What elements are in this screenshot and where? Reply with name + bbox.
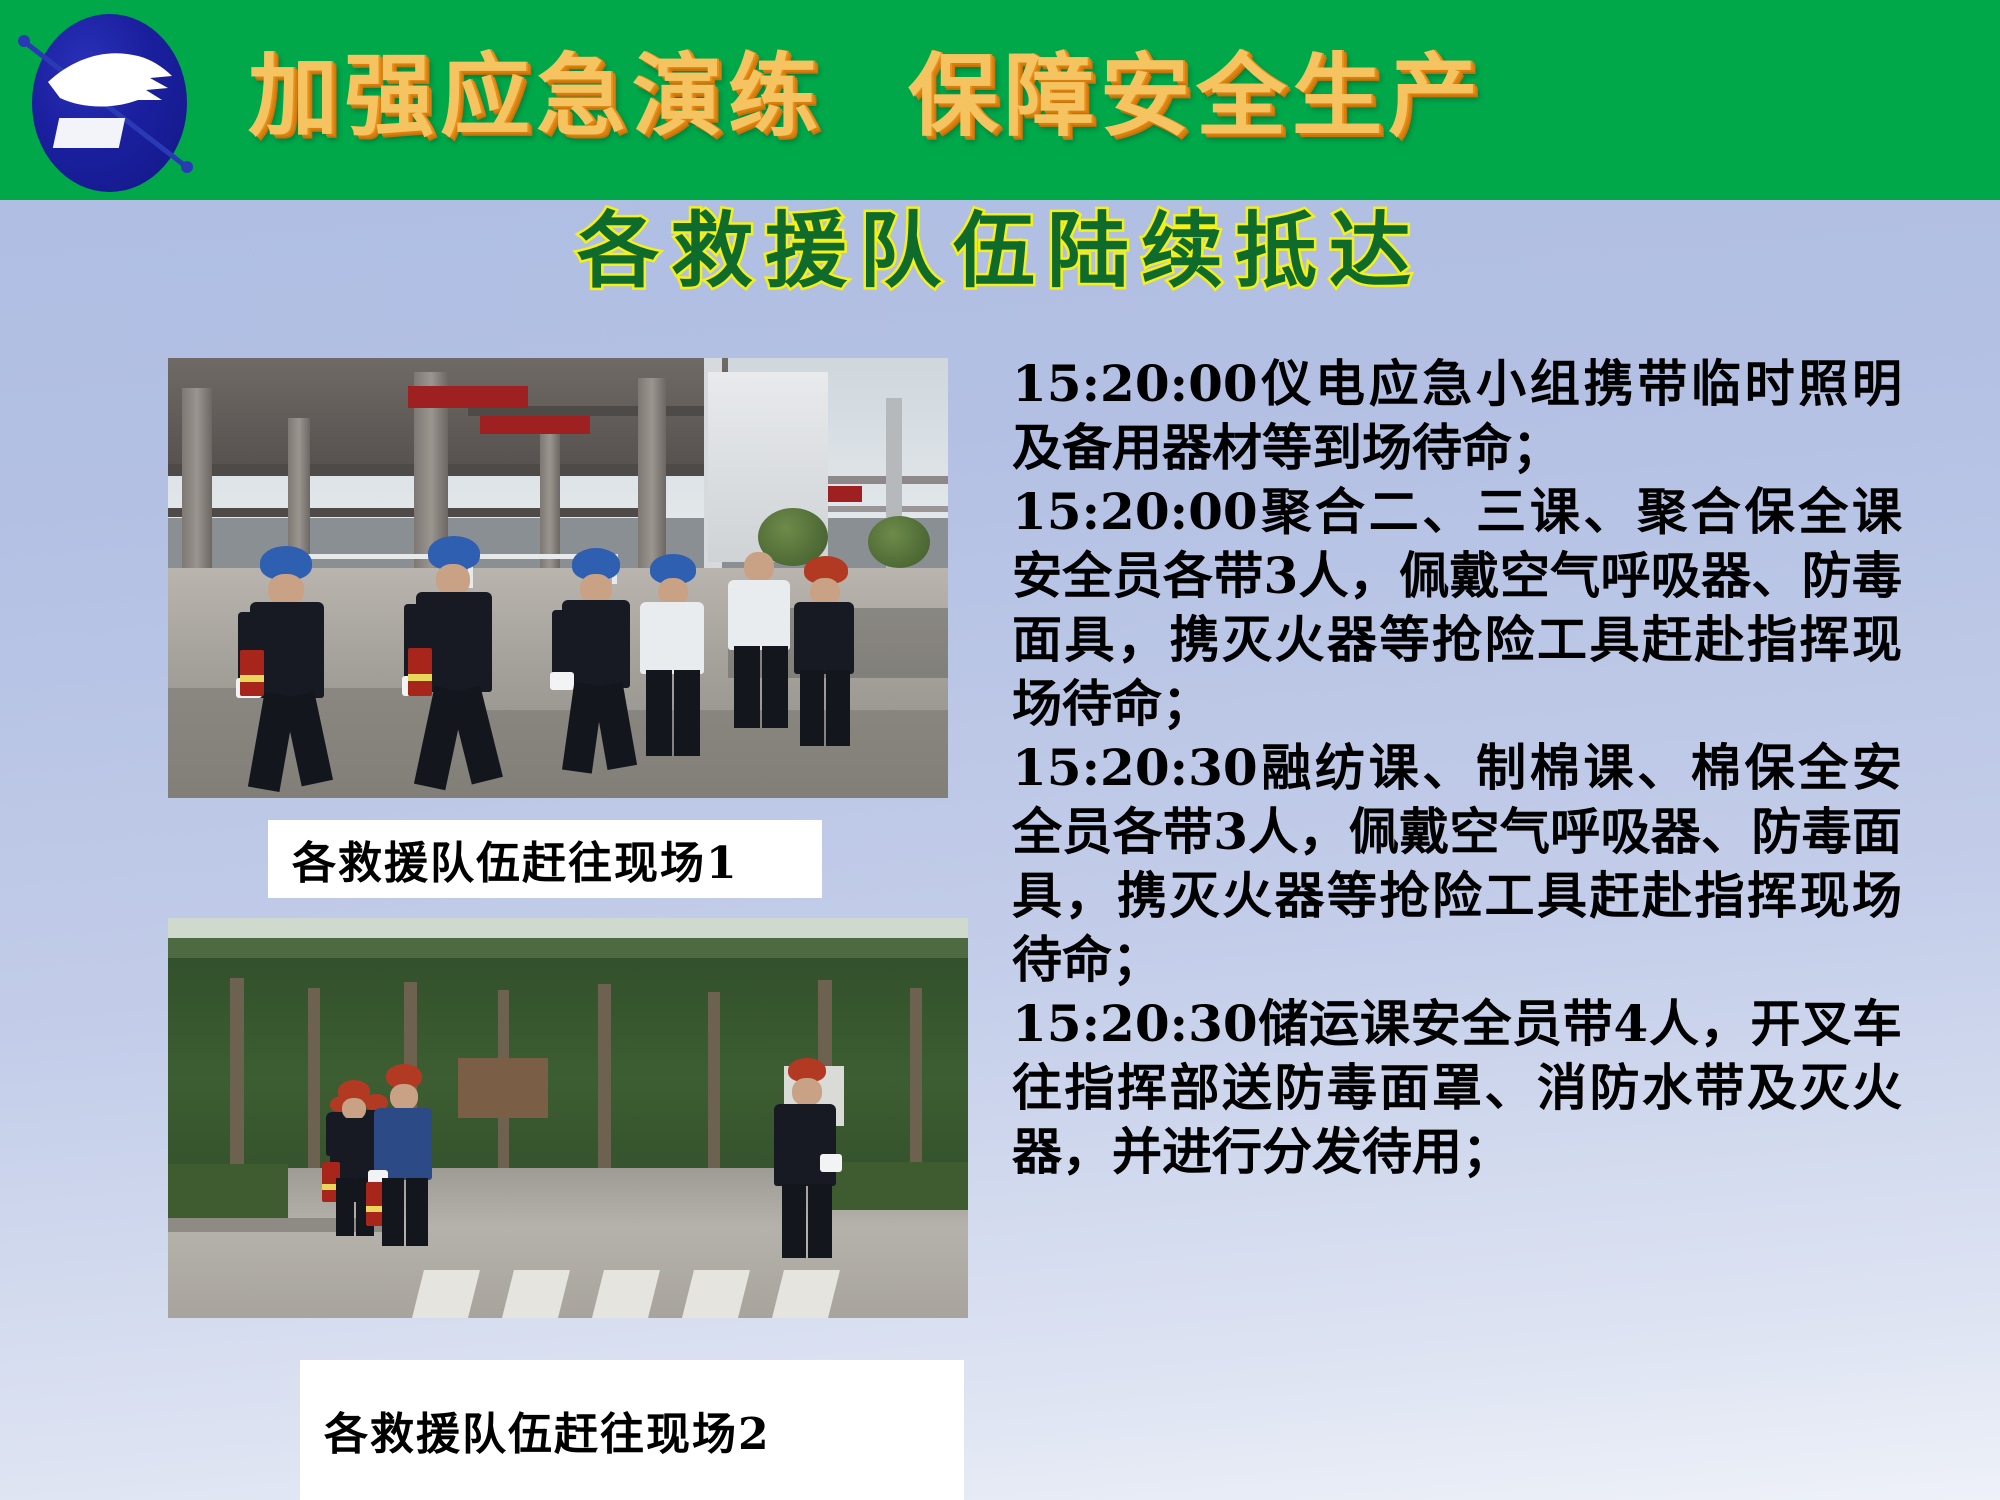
- body-paragraph: 15:20:30融纺课、制棉课、棉保全安全员各带3人，佩戴空气呼吸器、防毒面具，…: [1012, 736, 1902, 992]
- body-paragraph: 15:20:30储运课安全员带4人，开叉车往指挥部送防毒面罩、消防水带及灭火器，…: [1012, 992, 1902, 1184]
- body-text: 15:20:00仪电应急小组携带临时照明及备用器材等到场待命； 15:20:00…: [1012, 352, 1902, 1184]
- company-logo: [10, 0, 205, 200]
- body-paragraph: 15:20:00仪电应急小组携带临时照明及备用器材等到场待命；: [1012, 352, 1902, 480]
- body-paragraph: 15:20:00聚合二、三课、聚合保全课安全员各带3人，佩戴空气呼吸器、防毒面具…: [1012, 480, 1902, 736]
- photo-person: [364, 1064, 444, 1250]
- photo-person: [764, 1058, 848, 1258]
- slide-banner: 加强应急演练 保障安全生产: [0, 0, 2000, 200]
- photo-person: [784, 556, 870, 756]
- banner-title-right: 保障安全生产: [908, 23, 1484, 153]
- logo-wordmark: [53, 118, 125, 148]
- photo-person: [238, 546, 348, 796]
- banner-title: 加强应急演练 保障安全生产: [230, 28, 1990, 148]
- page-title: 各救援队伍陆续抵达: [0, 184, 2000, 303]
- photo-rescue-teams-2: [168, 918, 968, 1318]
- photo-person: [628, 554, 724, 770]
- photo-person: [400, 536, 510, 796]
- photo-caption-1: 各救援队伍赶往现场1: [268, 820, 822, 898]
- photo-rescue-teams-1: [168, 358, 948, 798]
- photo-caption-2: 各救援队伍赶往现场2: [300, 1360, 964, 1500]
- banner-title-left: 加强应急演练: [248, 23, 824, 153]
- slide-background: 加强应急演练 保障安全生产 各救援队伍陆续抵达: [0, 0, 2000, 1500]
